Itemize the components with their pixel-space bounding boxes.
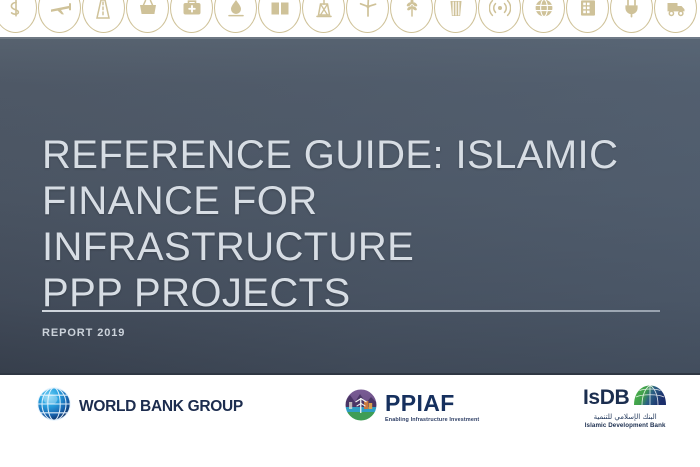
isdb-name-row: IsDB	[583, 384, 667, 411]
ppiaf-tagline: Enabling Infrastructure Investment	[385, 416, 479, 424]
dam-icon	[434, 0, 477, 33]
isdb-textblock: IsDB	[583, 384, 667, 430]
ppiaf-textblock: PPIAF Enabling Infrastructure Investment	[385, 392, 479, 424]
oil-rig-icon	[302, 0, 345, 33]
currency-icon	[0, 0, 37, 33]
oil-rig-icon-glyph	[313, 0, 335, 19]
report-cover: REFERENCE GUIDE: ISLAMIC FINANCE FOR INF…	[0, 0, 700, 467]
ppiaf-label: PPIAF	[385, 392, 479, 415]
currency-icon-glyph	[5, 0, 27, 19]
power-plug-icon	[610, 0, 653, 33]
title-panel: REFERENCE GUIDE: ISLAMIC FINANCE FOR INF…	[0, 37, 700, 373]
basket-icon	[126, 0, 169, 33]
truck-icon-glyph	[665, 0, 687, 19]
first-aid-icon-glyph	[181, 0, 203, 19]
title-divider-rule	[42, 310, 660, 312]
isdb-dome-icon	[633, 384, 667, 411]
globe-network-icon-glyph	[533, 0, 555, 19]
power-plug-icon-glyph	[621, 0, 643, 19]
sector-icon-strip	[0, 0, 700, 37]
wind-turbine-icon-glyph	[357, 0, 379, 19]
wind-turbine-icon	[346, 0, 389, 33]
airplane-icon-glyph	[49, 0, 71, 19]
water-drop-icon-glyph	[225, 0, 247, 19]
wheat-icon-glyph	[401, 0, 423, 19]
ppiaf-circle-icon	[344, 388, 378, 427]
road-icon-glyph	[93, 0, 115, 19]
title-block: REFERENCE GUIDE: ISLAMIC FINANCE FOR INF…	[42, 132, 667, 316]
wireless-signal-icon-glyph	[489, 0, 511, 19]
isdb-arabic-label: البنك الإسلامي للتنمية	[594, 413, 657, 422]
footer-top-edge	[0, 373, 700, 375]
airplane-icon	[38, 0, 81, 33]
first-aid-icon	[170, 0, 213, 33]
open-book-icon-glyph	[269, 0, 291, 19]
wheat-icon	[390, 0, 433, 33]
open-book-icon	[258, 0, 301, 33]
water-drop-icon	[214, 0, 257, 33]
ppiaf-logo[interactable]: PPIAF Enabling Infrastructure Investment	[344, 388, 479, 427]
page-title: REFERENCE GUIDE: ISLAMIC FINANCE FOR INF…	[42, 132, 667, 316]
building-icon-glyph	[577, 0, 599, 19]
isdb-label: IsDB	[583, 387, 629, 408]
dam-icon-glyph	[445, 0, 467, 19]
building-icon	[566, 0, 609, 33]
world-bank-group-label: WORLD BANK GROUP	[79, 398, 243, 416]
globe-icon	[36, 386, 72, 427]
road-icon	[82, 0, 125, 33]
basket-icon-glyph	[137, 0, 159, 19]
isdb-subtitle: Islamic Development Bank	[585, 422, 666, 430]
globe-network-icon	[522, 0, 565, 33]
report-label: REPORT 2019	[42, 327, 125, 339]
isdb-logo[interactable]: IsDB	[583, 384, 667, 430]
wireless-signal-icon	[478, 0, 521, 33]
truck-icon	[654, 0, 697, 33]
world-bank-group-logo[interactable]: WORLD BANK GROUP	[36, 386, 243, 427]
